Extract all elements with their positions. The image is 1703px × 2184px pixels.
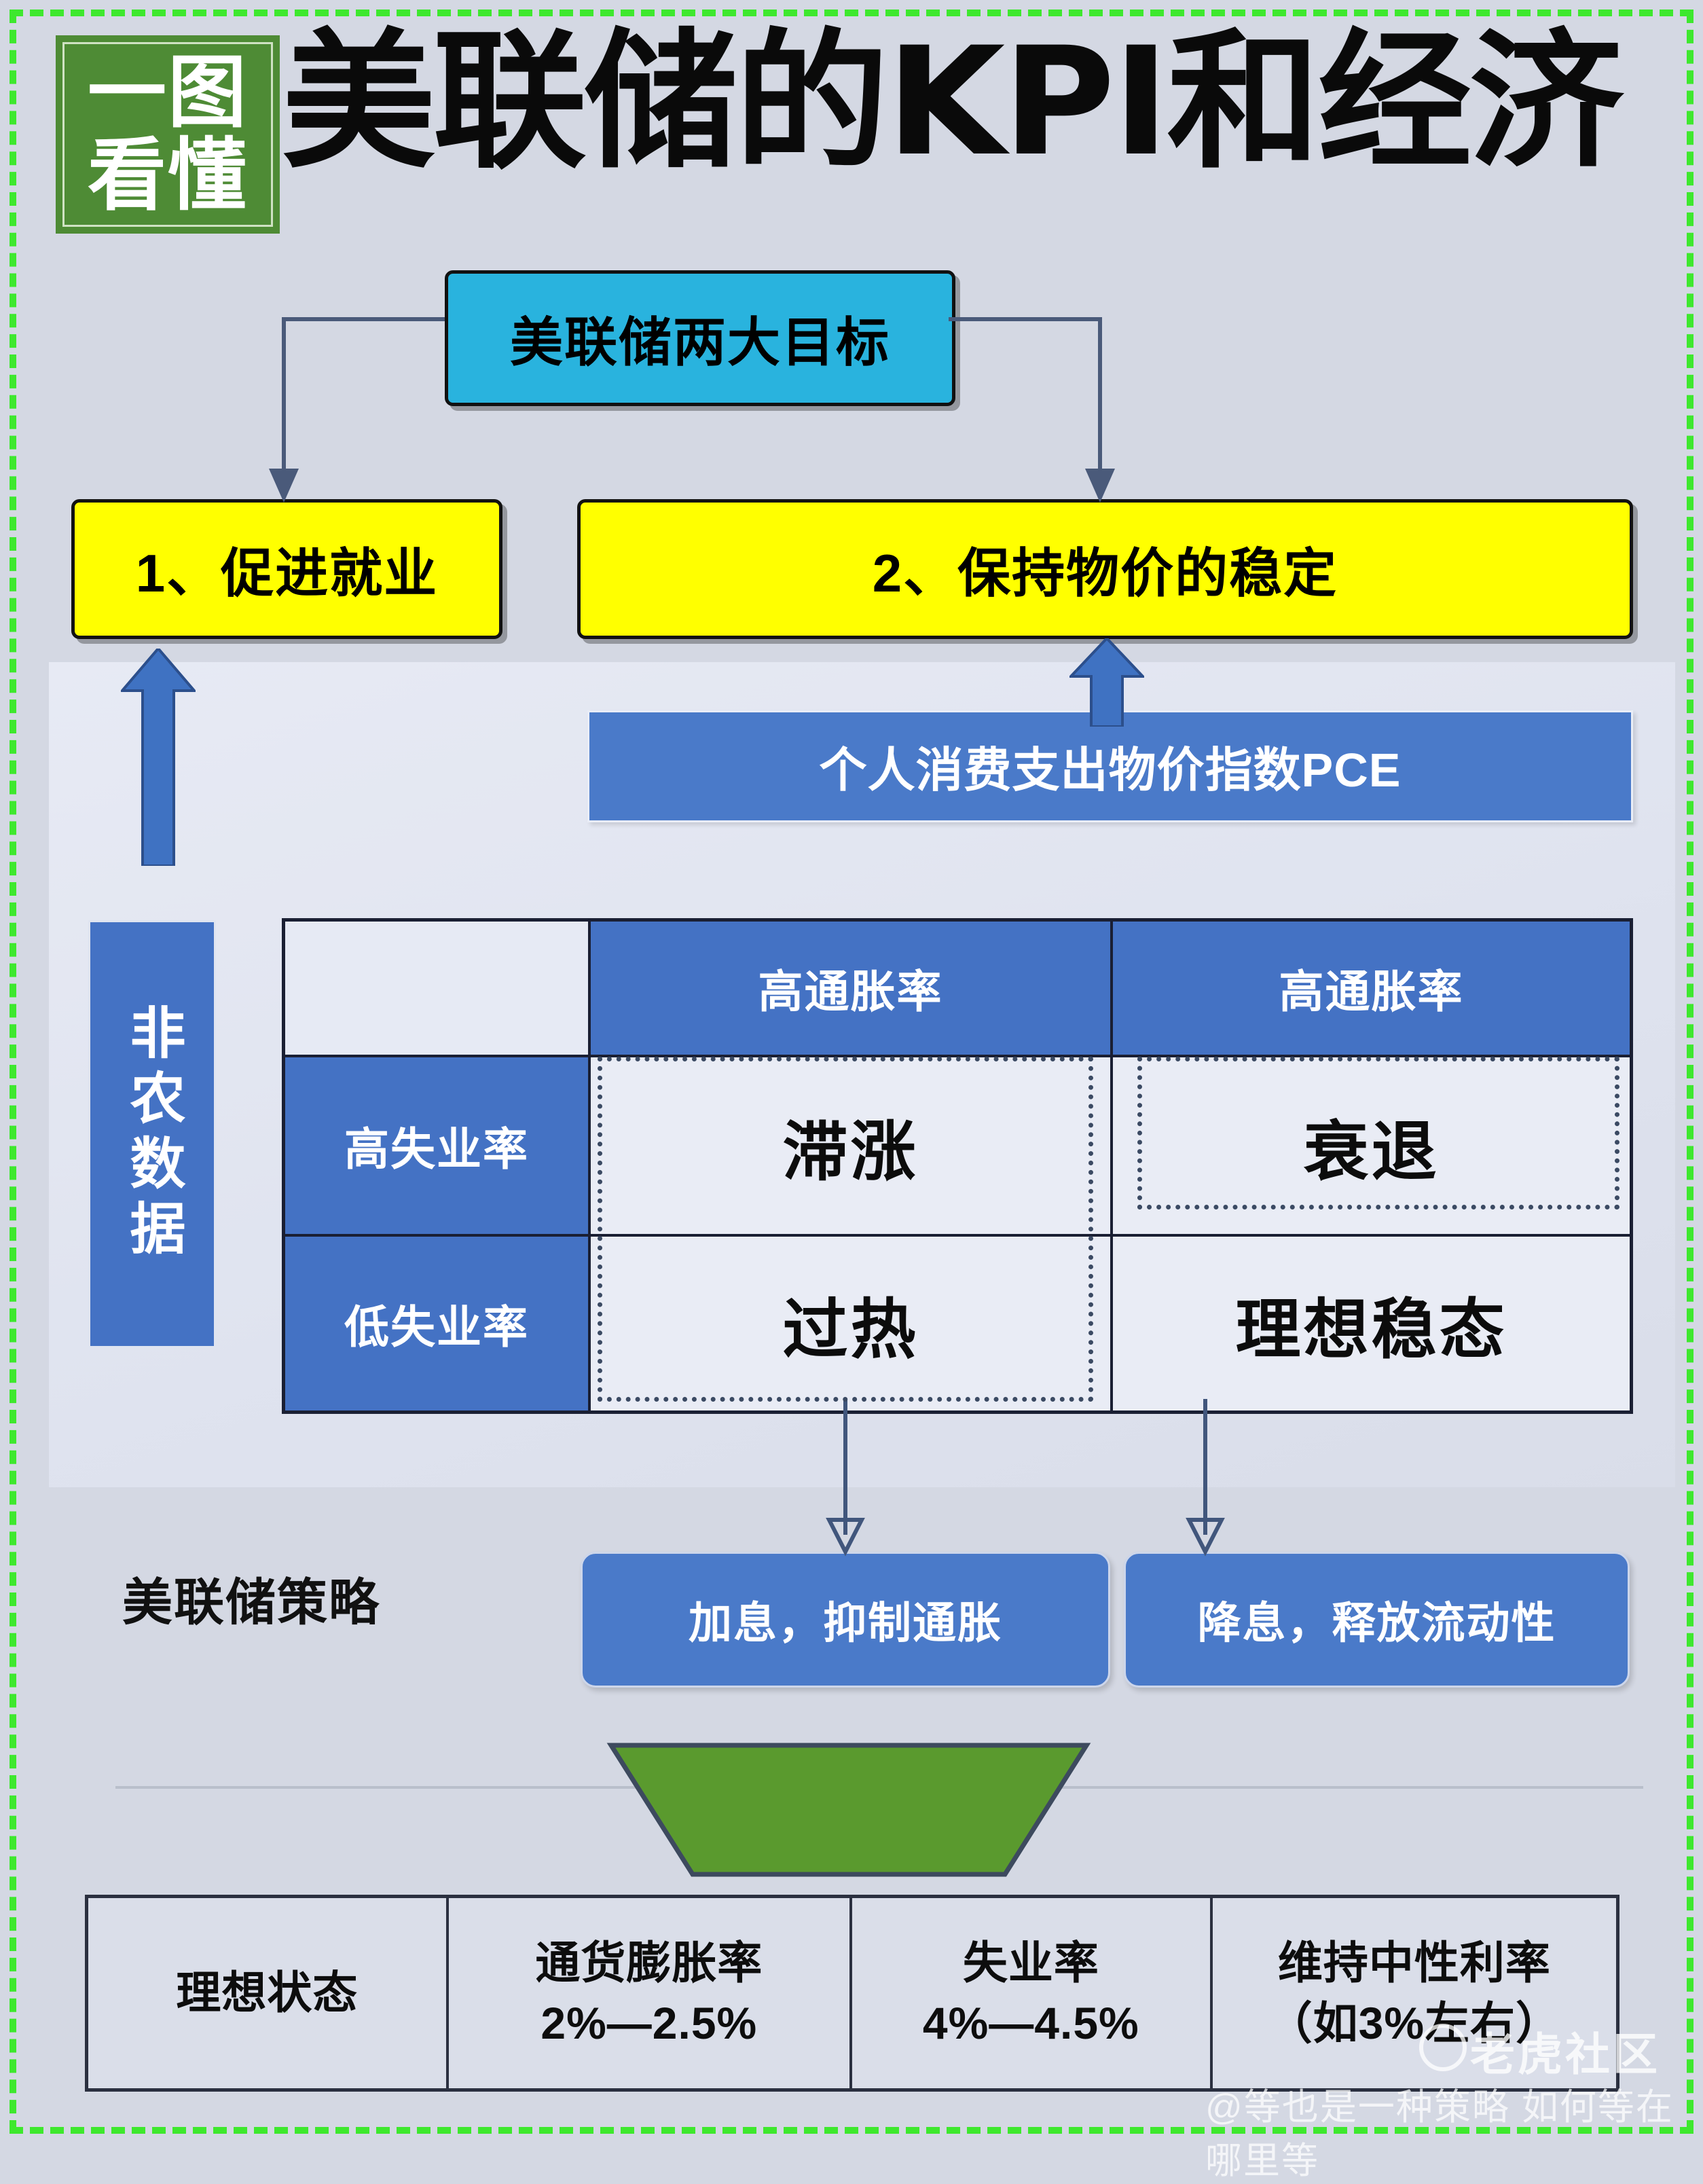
table-cell-ideal-state: 理想状态 [88, 1898, 449, 2088]
table-cell-inflation: 通货膨胀率 2%—2.5% [449, 1898, 852, 2088]
author-handle-watermark: @等也是一种策略 如何等在哪里等 [1205, 2077, 1703, 2184]
matrix-col-header-2: 高通胀率 [1110, 922, 1630, 1057]
matrix-cell-overheating: 过热 [591, 1234, 1110, 1410]
funnel-shape-icon [598, 1739, 1100, 1901]
nonfarm-payrolls-label: 非农数据 [88, 920, 216, 1348]
table-cell-title-4: 维持中性利率 [1278, 1933, 1551, 1993]
fed-strategy-label: 美联储策略 [122, 1562, 380, 1635]
table-cell-title-2: 通货膨胀率 [535, 1933, 763, 1993]
arrow-up-to-price-stability-icon [1069, 638, 1144, 727]
strategy-box-cut[interactable]: 降息，释放流动性 [1124, 1552, 1630, 1688]
matrix-cell-stagflation: 滞涨 [591, 1057, 1110, 1234]
table-cell-value-3: 4%—4.5% [923, 1993, 1139, 2054]
matrix-cell-ideal-stable: 理想稳态 [1110, 1234, 1630, 1410]
matrix-corner-cell [285, 922, 591, 1057]
nonfarm-payrolls-text: 非农数据 [124, 1004, 180, 1264]
table-cell-title-1: 理想状态 [176, 1963, 358, 2023]
pce-index-bar[interactable]: 个人消费支出物价指数PCE [587, 710, 1633, 822]
matrix-col-header-1: 高通胀率 [591, 922, 1110, 1057]
arrow-up-to-employment-icon [121, 649, 196, 866]
strategy-box-hike[interactable]: 加息，抑制通胀 [581, 1552, 1110, 1688]
brand-logo-icon [1419, 2024, 1467, 2071]
table-cell-unemployment: 失业率 4%—4.5% [852, 1898, 1213, 2088]
matrix-cell-recession: 衰退 [1110, 1057, 1630, 1234]
matrix-row-header-2: 低失业率 [285, 1234, 591, 1410]
ideal-state-table: 理想状态 通货膨胀率 2%—2.5% 失业率 4%—4.5% 维持中性利率 （如… [85, 1895, 1619, 2092]
brand-watermark: 老虎社区 [1470, 2018, 1660, 2083]
table-cell-value-2: 2%—2.5% [541, 1993, 757, 2054]
table-cell-title-3: 失业率 [963, 1933, 1099, 1993]
matrix-row-header-1: 高失业率 [285, 1057, 591, 1234]
goal-connectors [0, 0, 1703, 530]
matrix-to-strategy-arrows [0, 1399, 1703, 1562]
economy-state-matrix: 高通胀率 高通胀率 高失业率 滞涨 衰退 低失业率 过热 理想稳态 [282, 918, 1633, 1414]
